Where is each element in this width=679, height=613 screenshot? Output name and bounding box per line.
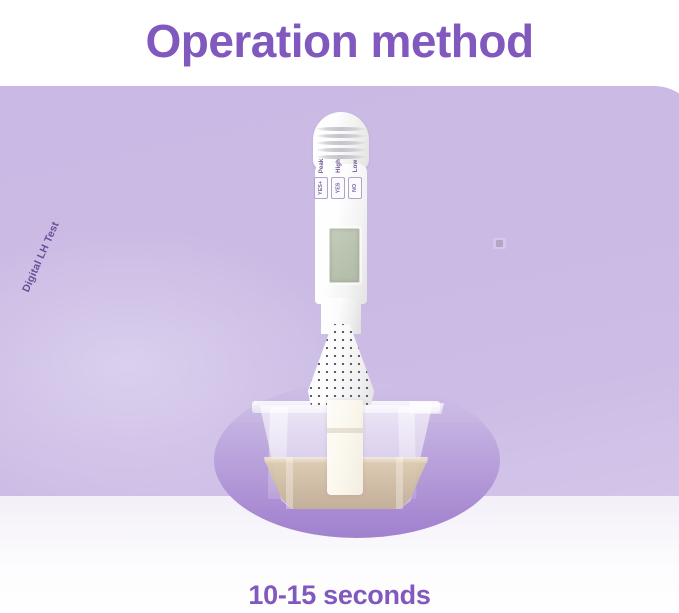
result-answer-row: YES+ YES NO <box>314 177 362 199</box>
device-lcd-screen <box>329 228 360 283</box>
result-answer-no: NO <box>348 177 362 199</box>
result-answer-yes-plus: YES+ <box>314 177 328 199</box>
image-speck-artifact <box>496 240 503 247</box>
test-strip-band <box>327 428 363 433</box>
device-brand-text-wrap: Digital LH Test <box>14 230 68 284</box>
result-answer-yes: YES <box>331 177 345 199</box>
device-brand-text: Digital LH Test <box>20 220 62 294</box>
cup-graduation-left <box>286 457 293 509</box>
caption-bar: 10-15 seconds <box>0 577 679 613</box>
test-strip-absorbent-tip <box>327 400 363 495</box>
result-legend: Peak High Low YES+ YES NO <box>314 156 362 200</box>
device-grip-dot-texture <box>305 324 377 410</box>
header-bar: Operation method <box>0 0 679 86</box>
duration-caption: 10-15 seconds <box>248 580 430 611</box>
result-level-low: Low <box>345 159 365 173</box>
result-level-row: Peak High Low <box>314 156 362 176</box>
page-title: Operation method <box>145 18 533 64</box>
cup-graduation-right <box>396 457 403 509</box>
